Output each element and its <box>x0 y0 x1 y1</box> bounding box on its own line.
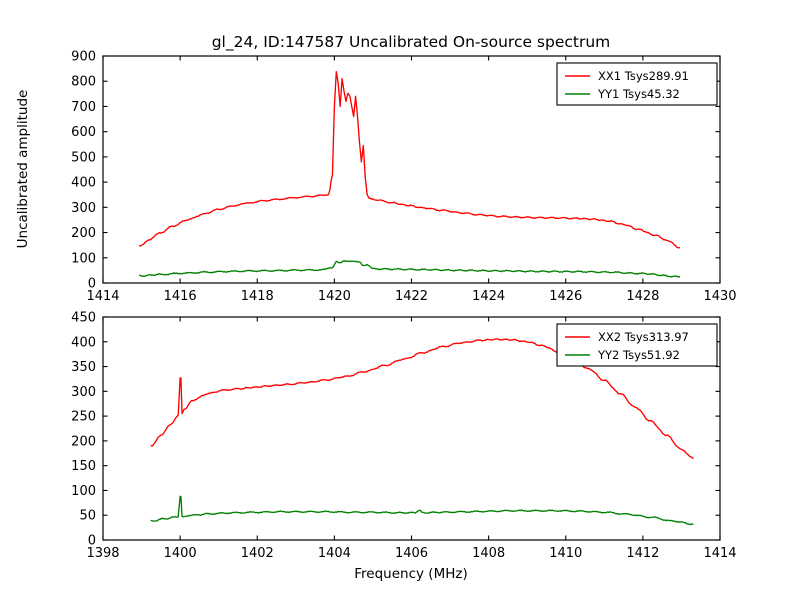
y-tick-label: 300 <box>71 201 96 216</box>
legend-label: YY1 Tsys45.32 <box>597 87 680 101</box>
y-tick-label: 700 <box>71 100 96 115</box>
x-tick-label: 1430 <box>703 289 736 304</box>
legend-top: XX1 Tsys289.91YY1 Tsys45.32 <box>557 63 717 105</box>
y-tick-label: 300 <box>71 385 96 400</box>
series-line-yy1 <box>140 261 680 277</box>
x-tick-label: 1428 <box>626 289 659 304</box>
y-tick-label: 450 <box>71 311 96 326</box>
y-tick-label: 0 <box>88 534 96 549</box>
y-tick-label: 500 <box>71 150 96 165</box>
y-tick-label: 100 <box>71 484 96 499</box>
y-tick-label: 200 <box>71 434 96 449</box>
plot-canvas: gl_24, ID:147587 Uncalibrated On-source … <box>0 0 800 600</box>
series-line-yy2 <box>151 496 693 524</box>
bottom-spectrum-panel: 1398140014021404140614081410141214140501… <box>71 311 736 562</box>
y-tick-label: 400 <box>71 335 96 350</box>
x-tick-label: 1406 <box>395 546 428 561</box>
x-tick-label: 1418 <box>241 289 274 304</box>
x-tick-label: 1424 <box>472 289 505 304</box>
y-tick-label: 50 <box>79 509 96 524</box>
y-tick-label: 100 <box>71 251 96 266</box>
x-tick-label: 1408 <box>472 546 505 561</box>
y-tick-label: 250 <box>71 410 96 425</box>
y-tick-label: 150 <box>71 459 96 474</box>
x-tick-label: 1426 <box>549 289 582 304</box>
figure-title: gl_24, ID:147587 Uncalibrated On-source … <box>212 33 611 52</box>
y-axis-label: Uncalibrated amplitude <box>15 90 31 249</box>
x-tick-label: 1404 <box>318 546 351 561</box>
x-tick-label: 1410 <box>549 546 582 561</box>
x-tick-label: 1414 <box>703 546 736 561</box>
x-tick-label: 1400 <box>164 546 197 561</box>
x-tick-label: 1412 <box>626 546 659 561</box>
x-tick-label: 1402 <box>241 546 274 561</box>
legend-label: XX1 Tsys289.91 <box>598 69 689 83</box>
legend-label: XX2 Tsys313.97 <box>598 330 689 344</box>
y-tick-label: 350 <box>71 360 96 375</box>
legend-bottom: XX2 Tsys313.97YY2 Tsys51.92 <box>557 324 717 366</box>
y-tick-label: 400 <box>71 176 96 191</box>
legend-label: YY2 Tsys51.92 <box>597 348 680 362</box>
x-axis-label: Frequency (MHz) <box>354 566 467 582</box>
y-tick-label: 200 <box>71 226 96 241</box>
x-tick-label: 1422 <box>395 289 428 304</box>
y-tick-label: 900 <box>71 50 96 65</box>
y-tick-label: 800 <box>71 75 96 90</box>
x-tick-label: 1420 <box>318 289 351 304</box>
top-spectrum-panel: 1414141614181420142214241426142814300100… <box>71 50 736 305</box>
spectrum-figure: gl_24, ID:147587 Uncalibrated On-source … <box>0 0 800 600</box>
y-tick-label: 0 <box>88 277 96 292</box>
y-tick-label: 600 <box>71 125 96 140</box>
x-tick-label: 1416 <box>164 289 197 304</box>
